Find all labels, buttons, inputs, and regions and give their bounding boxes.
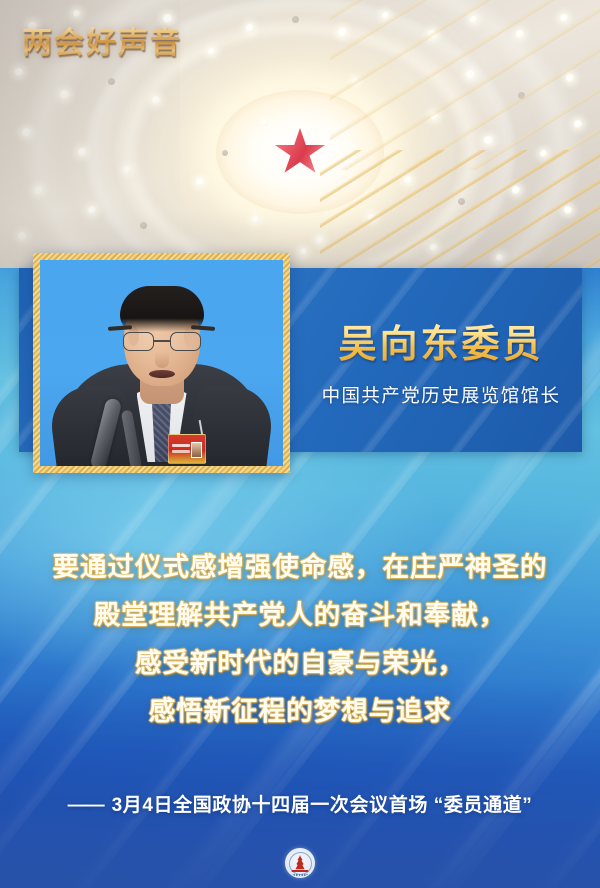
- quote-block: 要通过仪式感增强使命感，在庄严神圣的 殿堂理解共产党人的奋斗和奉献， 感受新时代…: [0, 543, 600, 735]
- glasses-icon: [122, 332, 202, 352]
- gold-diagonal-rays-top: [330, 0, 600, 170]
- poster-title: 两会好声音: [22, 18, 182, 62]
- quote-line: 感悟新征程的梦想与追求: [0, 687, 600, 735]
- quote-line: 要通过仪式感增强使命感，在庄严神圣的: [0, 543, 600, 591]
- footer-attribution: ——3月4日全国政协十四届一次会议首场 “委员通道”: [0, 790, 600, 817]
- person-name: 吴向东委员: [338, 313, 543, 368]
- portrait-frame: [33, 253, 290, 473]
- quote-line: 殿堂理解共产党人的奋斗和奉献，: [0, 591, 600, 639]
- suit-shoulder-left: [47, 386, 136, 466]
- nose: [155, 352, 169, 368]
- portrait-photo: [40, 260, 283, 466]
- cppcc-emblem-icon: [285, 848, 315, 878]
- conference-id-badge: [168, 434, 206, 464]
- mouth: [149, 370, 175, 378]
- quote-line: 感受新时代的自豪与荣光，: [0, 639, 600, 687]
- footer-dash: ——: [68, 795, 104, 816]
- poster-root: 两会好声音 吴向东委员 中国共产党历史展览馆馆长: [0, 0, 600, 888]
- person-title: 中国共产党历史展览馆馆长: [322, 382, 561, 408]
- footer-source: 3月4日全国政协十四届一次会议首场 “委员通道”: [112, 795, 533, 816]
- name-block: 吴向东委员 中国共产党历史展览馆馆长: [300, 268, 582, 452]
